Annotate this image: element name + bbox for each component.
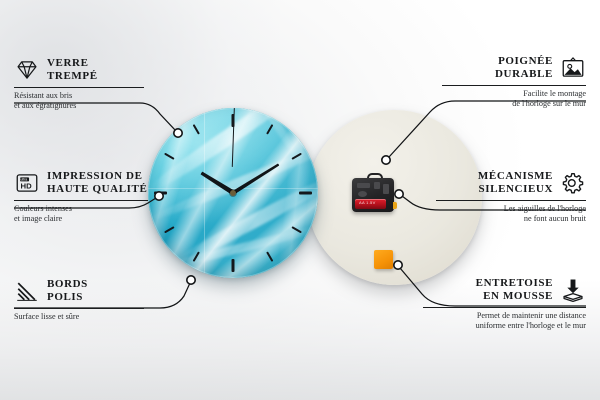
callout-rule xyxy=(14,87,144,88)
callout-sub-line2: et aux égratignures xyxy=(14,101,144,111)
callout-rule xyxy=(442,85,586,86)
callout-sub-line1: Surface lisse et sûre xyxy=(14,312,144,322)
callout-sub-line2: ne font aucun bruit xyxy=(436,214,586,224)
callout-sub-line2: et image claire xyxy=(14,214,148,224)
callout-mecanisme-silencieux: MÉCANISME SILENCIEUX Les aiguilles de l'… xyxy=(436,170,586,224)
gear-icon xyxy=(560,170,586,196)
callout-poignee-durable: POIGNÉE DURABLE Facilite le montage de l… xyxy=(442,55,586,109)
callout-title-line1: IMPRESSION DE xyxy=(47,170,147,183)
diamond-icon xyxy=(14,57,40,83)
product-infographic: AA 1.5V xyxy=(0,0,600,400)
callout-title-line1: ENTRETOISE xyxy=(476,277,553,290)
callout-sub-line2: uniforme entre l'horloge et le mur xyxy=(423,321,586,331)
callout-title-line2: DURABLE xyxy=(495,68,553,81)
mechanism-battery: AA 1.5V xyxy=(355,199,386,209)
battery-label: AA 1.5V xyxy=(359,200,376,205)
callout-title: IMPRESSION DE HAUTE QUALITÉ xyxy=(47,170,147,196)
callout-title-line2: TREMPÉ xyxy=(47,70,98,83)
clock-hand-cap xyxy=(230,190,236,196)
picture-hanger-icon xyxy=(560,55,586,81)
ultra-hd-icon: ultra HD xyxy=(14,170,40,196)
callout-sub-line2: de l'horloge sur le mur xyxy=(442,99,586,109)
mechanism-detail-d xyxy=(358,191,367,197)
callout-header: POIGNÉE DURABLE xyxy=(442,55,586,81)
callout-title: POIGNÉE DURABLE xyxy=(495,55,553,81)
mechanism-detail-c xyxy=(383,184,389,194)
callout-title: ENTRETOISE EN MOUSSE xyxy=(476,277,553,303)
foam-spacer-icon xyxy=(560,277,586,303)
callout-sub-line1: Permet de maintenir une distance xyxy=(423,311,586,321)
mechanism-detail-a xyxy=(357,183,370,188)
callout-title-line1: BORDS xyxy=(47,278,88,291)
callout-rule xyxy=(14,200,148,201)
svg-text:HD: HD xyxy=(21,182,33,191)
callout-title-line2: HAUTE QUALITÉ xyxy=(47,183,147,196)
callout-title: VERRE TREMPÉ xyxy=(47,57,98,83)
callout-sub-line1: Les aiguilles de l'horloge xyxy=(436,204,586,214)
callout-verre-trempe: VERRE TREMPÉ Résistant aux bris et aux é… xyxy=(14,57,144,111)
callout-header: BORDS POLIS xyxy=(14,278,144,304)
callout-title-line2: SILENCIEUX xyxy=(478,183,553,196)
callout-title-line2: POLIS xyxy=(47,291,88,304)
callout-title-line1: MÉCANISME xyxy=(478,170,553,183)
callout-title: BORDS POLIS xyxy=(47,278,88,304)
connector-dot-left-3 xyxy=(187,276,195,284)
callout-rule xyxy=(423,307,586,308)
callout-bords-polis: BORDS POLIS Surface lisse et sûre xyxy=(14,278,144,322)
callout-entretoise-en-mousse: ENTRETOISE EN MOUSSE Permet de maintenir… xyxy=(423,277,586,331)
callout-rule xyxy=(14,308,144,309)
callout-sub-line1: Couleurs intenses xyxy=(14,204,148,214)
callout-header: MÉCANISME SILENCIEUX xyxy=(436,170,586,196)
callout-header: ultra HD IMPRESSION DE HAUTE QUALITÉ xyxy=(14,170,148,196)
callout-header: VERRE TREMPÉ xyxy=(14,57,144,83)
callout-rule xyxy=(436,200,586,201)
callout-title-line1: VERRE xyxy=(47,57,98,70)
callout-sub-line1: Résistant aux bris xyxy=(14,91,144,101)
foam-spacer-part xyxy=(374,250,393,269)
mechanism-detail-b xyxy=(374,182,380,189)
callout-title-line2: EN MOUSSE xyxy=(476,290,553,303)
clock-tick-6 xyxy=(232,259,235,272)
clock-front-disc xyxy=(148,108,318,278)
callout-sub-line1: Facilite le montage xyxy=(442,89,586,99)
callout-title-line1: POIGNÉE xyxy=(495,55,553,68)
battery-terminal xyxy=(393,202,397,209)
callout-impression-haute-qualite: ultra HD IMPRESSION DE HAUTE QUALITÉ Cou… xyxy=(14,170,148,224)
diagonal-stripes-icon xyxy=(14,278,40,304)
clock-tick-3 xyxy=(299,192,312,195)
callout-header: ENTRETOISE EN MOUSSE xyxy=(423,277,586,303)
clock-tick-9 xyxy=(154,192,167,195)
callout-title: MÉCANISME SILENCIEUX xyxy=(478,170,553,196)
clock-mechanism: AA 1.5V xyxy=(352,178,394,212)
